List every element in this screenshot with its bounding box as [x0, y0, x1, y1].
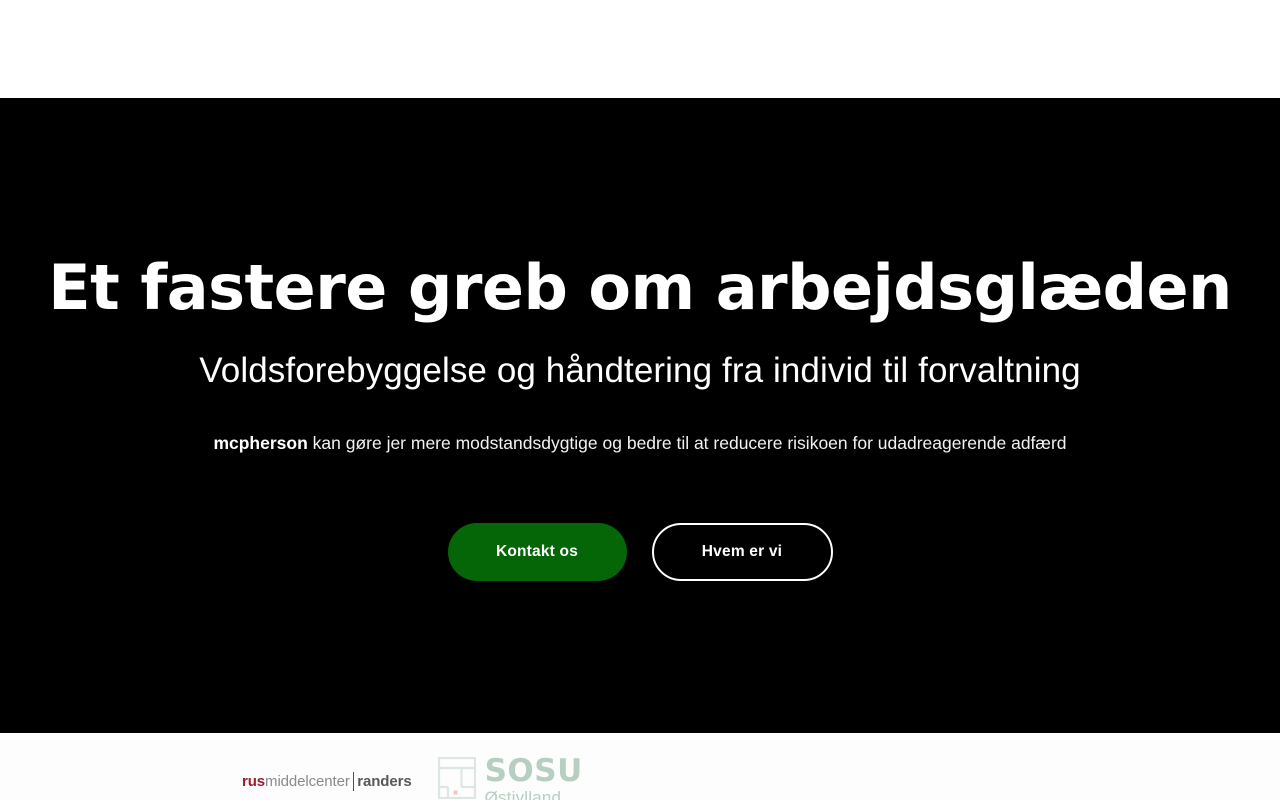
logo-rusmiddelcenter-randers[interactable]: rusmiddelcenterranders: [242, 772, 412, 791]
hero-title: Et fastere greb om arbejdsglæden: [40, 256, 1240, 320]
hero-lead: mcpherson kan gøre jer mere modstandsdyg…: [40, 430, 1240, 456]
partner-logos-row: rusmiddelcenterranders SOSU Østjylland: [0, 733, 1280, 800]
hero-subtitle: Voldsforebyggelse og håndtering fra indi…: [40, 350, 1240, 392]
hero-section: Et fastere greb om arbejdsglæden Voldsfo…: [0, 98, 1280, 733]
page-root: Et fastere greb om arbejdsglæden Voldsfo…: [0, 0, 1280, 800]
rusmiddelcenter-randers-text: randers: [357, 774, 411, 789]
sosu-subtitle-text: Østjylland: [485, 789, 583, 800]
hero-lead-brand: mcpherson: [213, 433, 307, 453]
partner-logos-section: rusmiddelcenterranders SOSU Østjylland: [0, 733, 1280, 800]
logo-sosu-ostjylland[interactable]: SOSU Østjylland: [438, 757, 583, 800]
sosu-wordmark: SOSU Østjylland: [485, 757, 583, 800]
rusmiddelcenter-middelcenter-text: middelcenter: [265, 774, 350, 789]
hero-inner: Et fastere greb om arbejdsglæden Voldsfo…: [0, 98, 1280, 581]
hero-actions: Kontakt os Hvem er vi: [40, 523, 1240, 581]
sosu-square-grid-icon: [438, 757, 476, 799]
rusmiddelcenter-divider: [353, 772, 355, 791]
header-inner: [0, 0, 1280, 98]
rusmiddelcenter-rus-text: rus: [242, 774, 265, 789]
sosu-title-text: SOSU: [485, 757, 583, 786]
who-we-are-button[interactable]: Hvem er vi: [652, 523, 833, 581]
site-header: [0, 0, 1280, 98]
contact-us-button[interactable]: Kontakt os: [448, 523, 627, 581]
hero-lead-text: kan gøre jer mere modstandsdygtige og be…: [308, 433, 1067, 453]
